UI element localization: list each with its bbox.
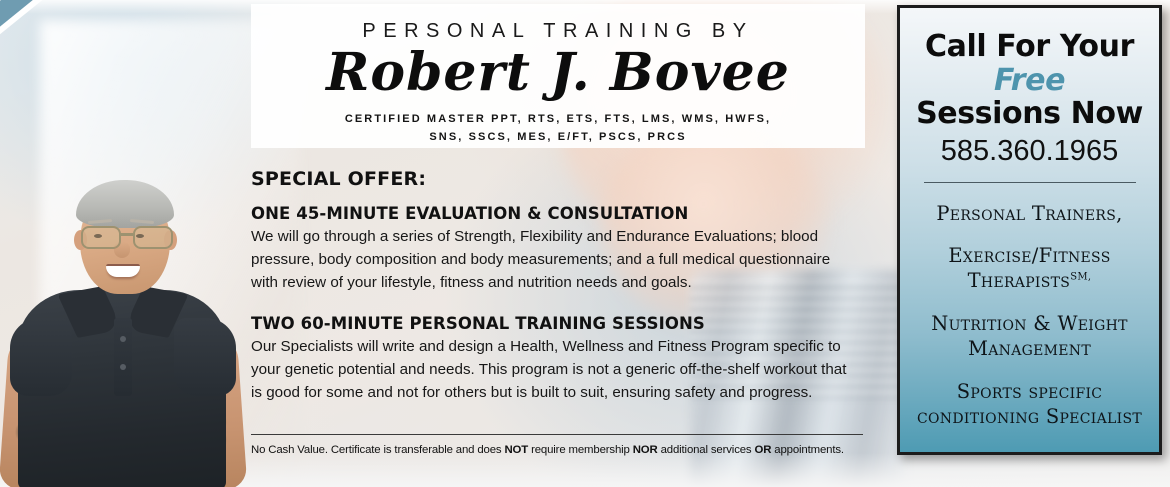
- offer-heading-evaluation: ONE 45-MINUTE EVALUATION & CONSULTATION: [251, 204, 866, 223]
- fineprint-text: No Cash Value. Certificate is transferab…: [251, 444, 863, 456]
- service-item-sports-conditioning: Sports specific conditioning Specialist: [914, 379, 1145, 430]
- fineprint-part-1: No Cash Value. Certificate is transferab…: [251, 444, 504, 456]
- eyeglass-lens-right: [133, 226, 173, 249]
- call-headline-lead: Call For Your: [925, 29, 1134, 64]
- offer-body-sessions: Our Specialists will write and design a …: [251, 335, 859, 404]
- offer-section: SPECIAL OFFER: ONE 45-MINUTE EVALUATION …: [251, 168, 866, 425]
- offer-body-evaluation: We will go through a series of Strength,…: [251, 225, 859, 294]
- trainer-photo: [10, 168, 235, 487]
- fineprint-divider: [251, 434, 863, 435]
- nose: [114, 242, 130, 258]
- shirt-button-top: [120, 336, 126, 342]
- smile: [106, 264, 140, 277]
- call-headline-free: Free: [994, 63, 1065, 98]
- header-kicker: PERSONAL TRAINING BY: [251, 4, 865, 43]
- fineprint-or: OR: [754, 444, 771, 456]
- right-sleeve: [174, 318, 236, 396]
- offer-heading-sessions: TWO 60-MINUTE PERSONAL TRAINING SESSIONS: [251, 314, 866, 333]
- offer-block-sessions: TWO 60-MINUTE PERSONAL TRAINING SESSIONS…: [251, 314, 866, 404]
- credentials: CERTIFIED MASTER PPT, RTS, ETS, FTS, LMS…: [251, 100, 865, 146]
- shirt-placket: [114, 318, 132, 396]
- service-item-personal-trainers: Personal Trainers,: [914, 201, 1145, 226]
- fineprint-section: No Cash Value. Certificate is transferab…: [251, 434, 863, 456]
- services-list: Personal Trainers, Exercise/Fitness Ther…: [900, 183, 1159, 429]
- fineprint-part-2: require membership: [528, 444, 633, 456]
- fineprint-not: NOT: [504, 444, 528, 456]
- flyer-root: Get Started Today! PERSONAL TRAINING BY …: [0, 0, 1170, 487]
- fineprint-part-3: additional services: [658, 444, 755, 456]
- service-item-nutrition-weight-management: Nutrition & Weight Management: [914, 311, 1145, 362]
- special-offer-title: SPECIAL OFFER:: [251, 168, 866, 190]
- eyeglass-bridge: [119, 233, 133, 236]
- credentials-line-1: CERTIFIED MASTER PPT, RTS, ETS, FTS, LMS…: [345, 113, 771, 125]
- call-headline: Call For Your Free Sessions Now: [900, 8, 1159, 131]
- service-therapists-sm-mark: SM,: [1070, 272, 1091, 283]
- fineprint-nor: NOR: [633, 444, 658, 456]
- fineprint-part-4: appointments.: [771, 444, 844, 456]
- credentials-line-2: SNS, SSCS, MES, E/FT, PSCS, PRCS: [429, 131, 686, 143]
- service-therapists-text: Exercise/Fitness Therapists: [948, 244, 1110, 292]
- left-sleeve: [10, 318, 72, 396]
- call-panel: Call For Your Free Sessions Now 585.360.…: [897, 5, 1162, 455]
- service-item-exercise-fitness-therapists: Exercise/Fitness TherapistsSM,: [914, 243, 1145, 294]
- offer-block-evaluation: ONE 45-MINUTE EVALUATION & CONSULTATION …: [251, 204, 866, 294]
- shirt-button-bottom: [120, 364, 126, 370]
- header-plate: PERSONAL TRAINING BY Robert J. Bovee CER…: [251, 4, 865, 148]
- trainer-name: Robert J. Bovee: [251, 43, 865, 100]
- phone-number[interactable]: 585.360.1965: [900, 135, 1159, 168]
- call-headline-line2: Sessions Now: [916, 96, 1143, 131]
